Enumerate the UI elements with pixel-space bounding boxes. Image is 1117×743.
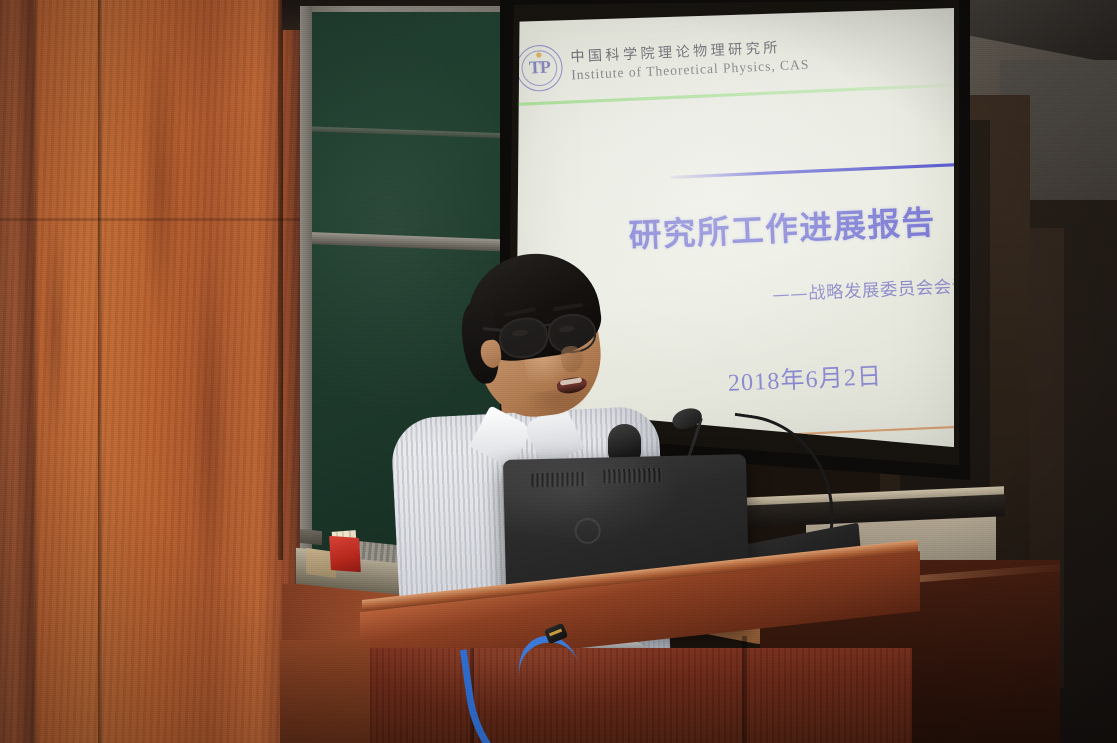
lecture-hall-scene: TP 中国科学院理论物理研究所 Institute of Theoretical… — [0, 0, 1117, 743]
monitor-vent — [531, 472, 586, 487]
slide-subtitle: ——战略发展委员会会议 — [772, 272, 954, 306]
slide-rule-blue — [670, 163, 954, 179]
monitor-vent — [603, 468, 661, 483]
chalk-box — [329, 536, 361, 572]
slide-header: TP 中国科学院理论物理研究所 Institute of Theoretical… — [516, 33, 810, 92]
wood-panel-seam — [98, 0, 102, 743]
organization-name-block: 中国科学院理论物理研究所 Institute of Theoretical Ph… — [570, 40, 810, 83]
left-wood-wall — [0, 0, 300, 743]
wood-panel-seam — [0, 218, 300, 221]
wood-panel-seam — [278, 0, 283, 560]
podium-front-panel — [352, 648, 912, 743]
itp-cas-seal-logo: TP — [516, 44, 564, 92]
monitor-brand-logo-icon — [574, 518, 601, 545]
slide-title: 研究所工作进展报告 — [628, 196, 937, 257]
blackboard-eraser — [300, 529, 322, 545]
wood-grain-texture — [0, 0, 300, 743]
chalkboard-rail — [300, 6, 312, 606]
podium-left-panel — [280, 640, 370, 743]
seal-monogram: TP — [517, 56, 562, 79]
slide-date: 2018年6月2日 — [727, 356, 883, 399]
podium-panel-seam — [742, 636, 747, 743]
